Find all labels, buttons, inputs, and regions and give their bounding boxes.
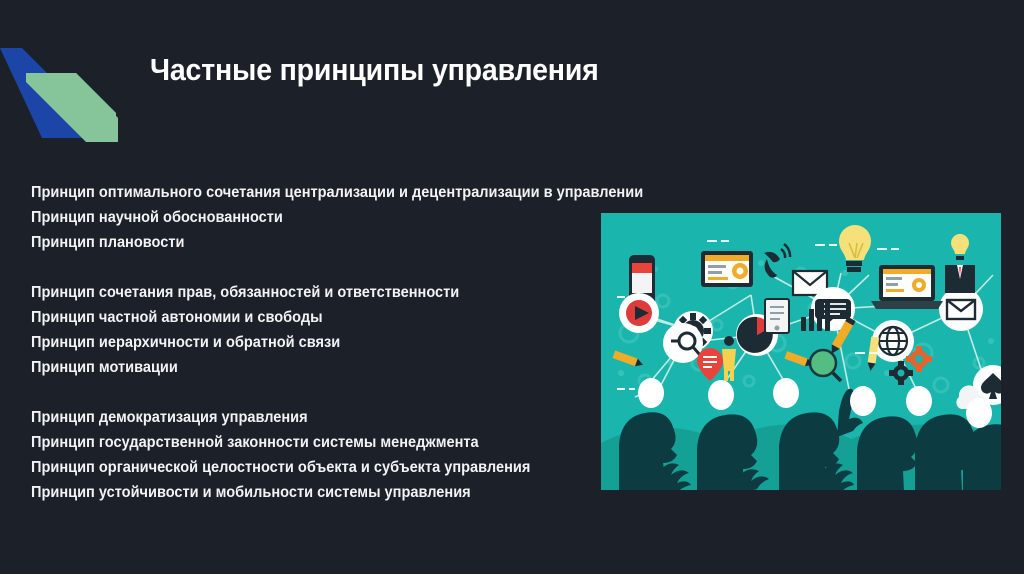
document-icon — [765, 299, 789, 333]
principle-line: Принцип демократизация управления — [31, 405, 557, 430]
slide-canvas: Частные принципы управления Принцип опти… — [0, 0, 1024, 574]
principle-line: Принцип устойчивости и мобильности систе… — [31, 480, 557, 505]
magnifier-icon — [663, 323, 703, 363]
network-collaboration-illustration — [601, 213, 1001, 490]
laptop-icon — [871, 265, 943, 309]
tablet-icon — [701, 251, 753, 287]
corner-chevron-logo — [0, 30, 145, 150]
principle-line: Принцип оптимального сочетания централиз… — [31, 180, 557, 205]
principle-line: Принцип иерархичности и обратной связи — [31, 330, 557, 355]
principle-line: Принцип сочетания прав, обязанностей и о… — [31, 280, 557, 305]
envelope-node-icon — [939, 287, 983, 331]
principle-line: Принцип органической целостности объекта… — [31, 455, 557, 480]
principles-group-1: Принцип оптимального сочетания централиз… — [31, 180, 591, 255]
principle-line: Принцип мотивации — [31, 355, 557, 380]
principle-line: Принцип плановости — [31, 230, 557, 255]
page-title: Частные принципы управления — [150, 52, 849, 88]
principles-group-2: Принцип сочетания прав, обязанностей и о… — [31, 280, 591, 380]
principle-line: Принцип частной автономии и свободы — [31, 305, 557, 330]
principles-group-3: Принцип демократизация управления Принци… — [31, 405, 591, 505]
principles-list: Принцип оптимального сочетания централиз… — [31, 180, 591, 505]
principle-line: Принцип государственной законности систе… — [31, 430, 557, 455]
principle-line: Принцип научной обоснованности — [31, 205, 557, 230]
play-button-icon — [619, 293, 659, 333]
